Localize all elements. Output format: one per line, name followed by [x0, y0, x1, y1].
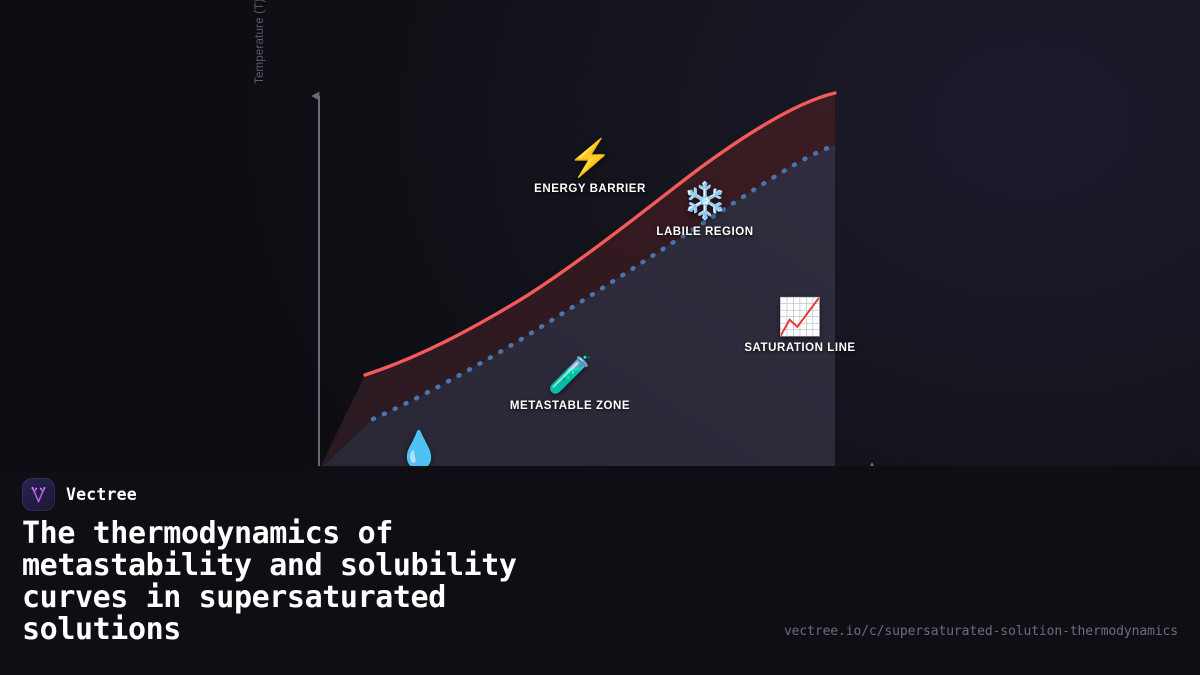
y-axis-label: Temperature (T)	[254, 0, 266, 84]
chart-svg	[0, 0, 1200, 520]
marker-saturation-line[interactable]: 📈 SATURATION LINE	[744, 299, 855, 354]
page-title: The thermodynamics of metastability and …	[22, 518, 722, 646]
brand-row[interactable]: Vectree	[22, 478, 137, 511]
droplet-icon: 💧	[397, 432, 442, 468]
high-voltage-icon: ⚡	[568, 140, 613, 176]
marker-metastable-zone[interactable]: 🧪 METASTABLE ZONE	[510, 357, 630, 412]
source-url: vectree.io/c/supersaturated-solution-the…	[784, 624, 1178, 639]
brand-name: Vectree	[66, 485, 137, 504]
marker-saturation-line-label: SATURATION LINE	[744, 342, 855, 354]
test-tube-icon: 🧪	[548, 357, 593, 393]
marker-energy-barrier[interactable]: ⚡ ENERGY BARRIER	[534, 140, 646, 195]
marker-labile-region-label: LABILE REGION	[656, 226, 753, 238]
marker-metastable-zone-label: METASTABLE ZONE	[510, 400, 630, 412]
infographic-canvas: Temperature (T) Concentration (C) ⚡ ENER…	[0, 0, 1200, 675]
footer-panel: Vectree The thermodynamics of metastabil…	[0, 466, 1200, 675]
snowflake-icon: ❄️	[683, 183, 728, 219]
vectree-v-tree-logo-icon	[22, 478, 55, 511]
chart-increasing-icon: 📈	[778, 299, 823, 335]
marker-labile-region[interactable]: ❄️ LABILE REGION	[656, 183, 753, 238]
chart-area: Temperature (T) Concentration (C) ⚡ ENER…	[0, 0, 1200, 520]
marker-energy-barrier-label: ENERGY BARRIER	[534, 183, 646, 195]
